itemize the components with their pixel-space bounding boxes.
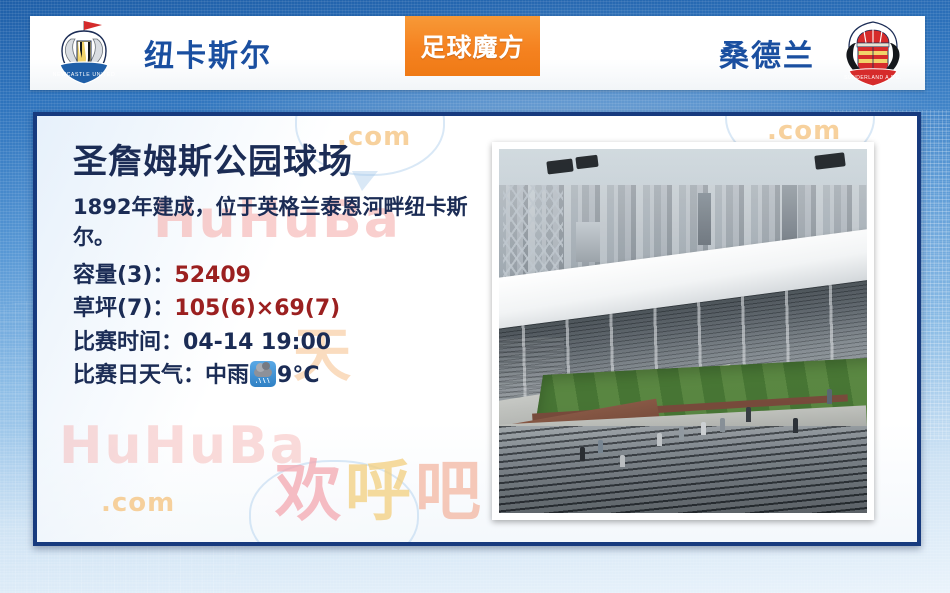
stat-label: 草坪(7)：: [73, 296, 174, 321]
stat-row-pitch: 草坪(7)：105(6)×69(7): [73, 292, 493, 325]
svg-text:SUNDERLAND A.F.C.: SUNDERLAND A.F.C.: [844, 75, 902, 81]
stadium-photo-frame[interactable]: NEWCASTLE UNITED: [492, 142, 874, 520]
stat-label: 容量(3)：: [73, 263, 174, 288]
stat-row-match-time: 比赛时间：04-14 19:00: [73, 326, 493, 359]
brand-logo-text: 足球魔方: [420, 28, 524, 64]
weather-label: 比赛日天气：: [73, 363, 205, 388]
stadium-details: 圣詹姆斯公园球场 1892年建成，位于英格兰泰恩河畔纽卡斯尔。 容量(3)：52…: [73, 144, 493, 393]
home-team-block[interactable]: NEWCASTLE UNITED 纽卡斯尔: [30, 16, 272, 90]
stat-value: 105(6)×69(7): [174, 296, 340, 321]
weather-temperature: 9°C: [277, 363, 319, 388]
brand-logo[interactable]: 足球魔方: [405, 16, 540, 76]
stat-value: 04-14 19:00: [183, 330, 331, 355]
photo-vignette: [499, 149, 867, 513]
stat-row-weather: 比赛日天气：中雨9°C: [73, 359, 493, 392]
home-team-name: 纽卡斯尔: [144, 31, 272, 75]
newcastle-united-crest-icon: NEWCASTLE UNITED: [48, 17, 120, 89]
stat-value: 52409: [174, 263, 251, 288]
weather-condition: 中雨: [205, 363, 249, 388]
page-title: 圣詹姆斯公园球场: [73, 144, 493, 181]
stadium-description: 1892年建成，位于英格兰泰恩河畔纽卡斯尔。: [73, 193, 473, 253]
stat-label: 比赛时间：: [73, 330, 183, 355]
away-team-block[interactable]: 桑德兰 SUNDERLAND A.F.C.: [719, 16, 925, 90]
st-james-park-stadium-photo: NEWCASTLE UNITED: [499, 149, 867, 513]
sunderland-afc-crest-icon: SUNDERLAND A.F.C.: [837, 17, 909, 89]
rain-cloud-icon: [250, 361, 276, 387]
stadium-info-panel: .com .com HuHuBa 天 HuHuBa .com 欢呼吧 圣詹姆斯公…: [33, 112, 921, 546]
away-team-name: 桑德兰: [719, 31, 815, 75]
svg-text:NEWCASTLE UNITED: NEWCASTLE UNITED: [53, 72, 116, 78]
stat-row-capacity: 容量(3)：52409: [73, 259, 493, 292]
